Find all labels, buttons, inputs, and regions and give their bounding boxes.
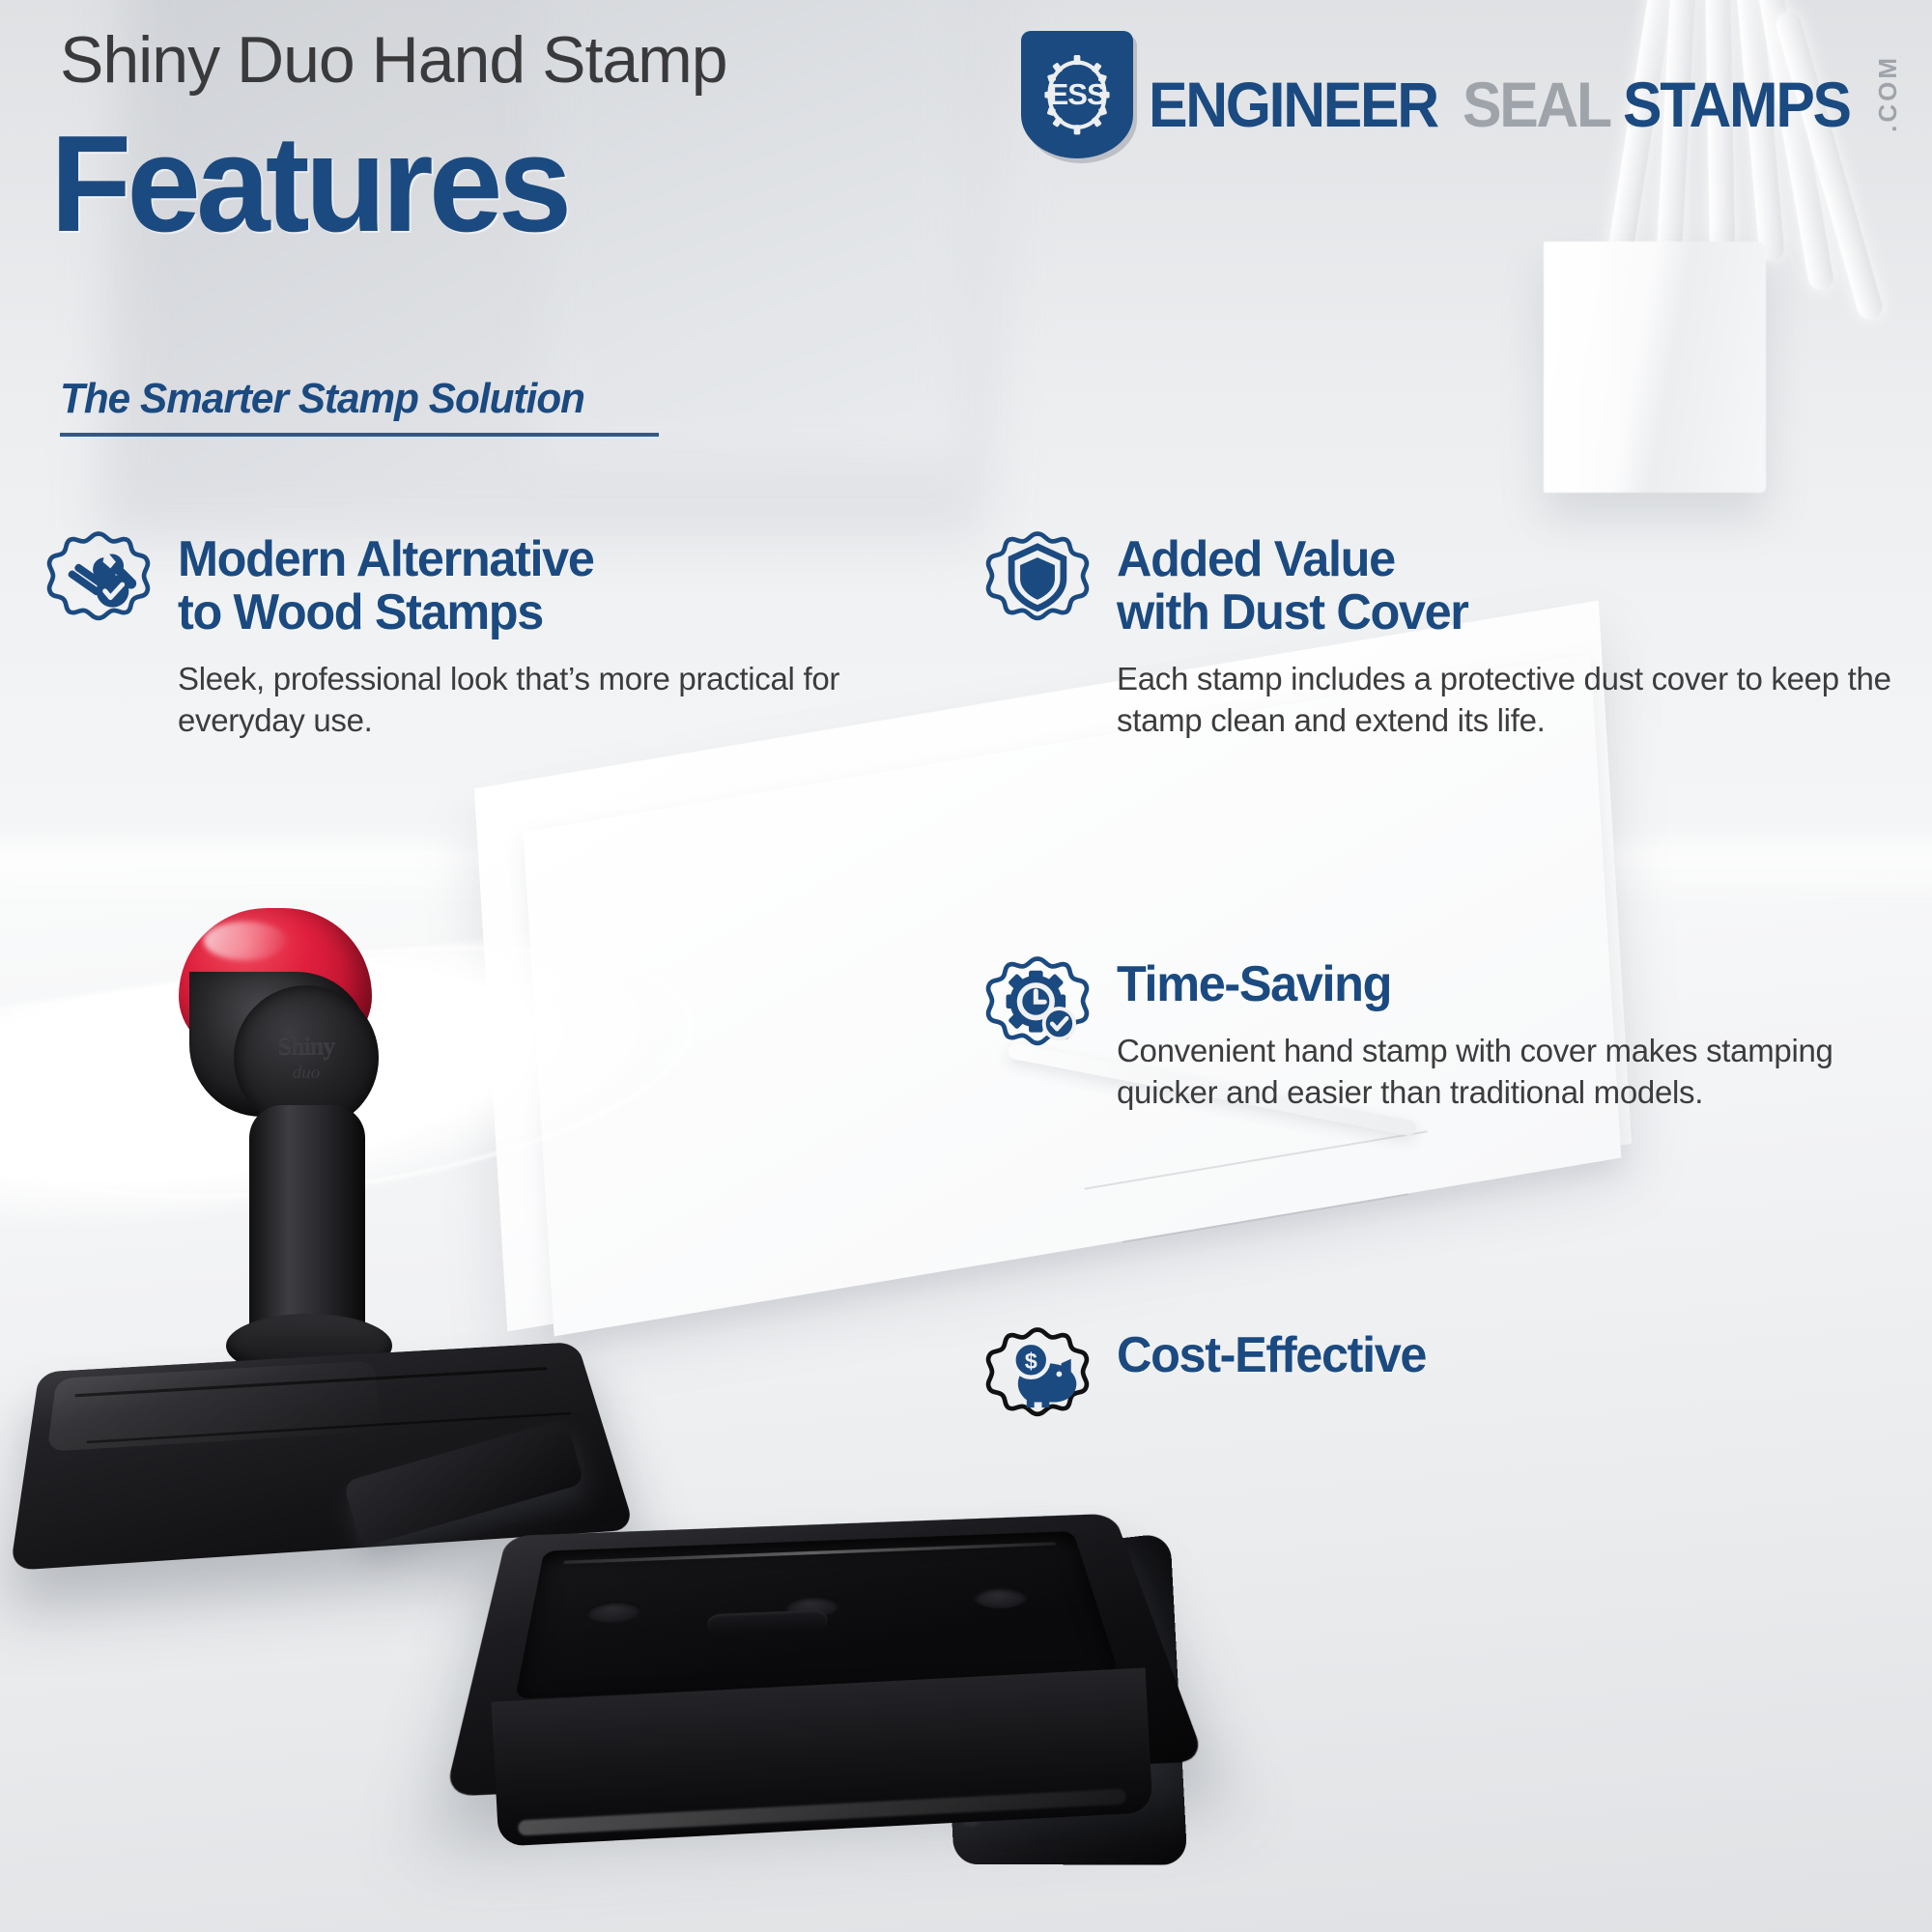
- feature-title-line-2: with Dust Cover: [1117, 586, 1868, 639]
- gear-icon: ESS: [1037, 50, 1118, 139]
- feature-item-added-value: Added Value with Dust Cover Each stamp i…: [983, 529, 1891, 742]
- feature-title-line-1: Modern Alternative: [178, 533, 882, 586]
- wordmark-tld: .COM: [1873, 55, 1903, 132]
- feature-description: Each stamp includes a protective dust co…: [1117, 659, 1891, 742]
- brand-logo[interactable]: ESS ENGINEER SEAL STAMPS .COM: [1021, 31, 1903, 158]
- feature-text-block: Cost-Effective: [1117, 1325, 1435, 1434]
- hero-tagline: The Smarter Stamp Solution: [60, 375, 635, 423]
- feature-text-block: Modern Alternative to Wood Stamps Sleek,…: [178, 529, 904, 742]
- hero-tagline-group: The Smarter Stamp Solution: [60, 375, 659, 437]
- feature-text-block: Added Value with Dust Cover Each stamp i…: [1117, 529, 1891, 742]
- gear-clock-check-badge-icon: [983, 954, 1092, 1063]
- feature-title-line-1: Time-Saving: [1117, 958, 1887, 1011]
- brand-wordmark: ENGINEER SEAL STAMPS .COM: [1149, 55, 1903, 134]
- wordmark-stamps: STAMPS: [1623, 75, 1850, 134]
- feature-title-line-2: to Wood Stamps: [178, 586, 882, 639]
- feature-title-line-1: Cost-Effective: [1117, 1329, 1426, 1382]
- feature-item-cost-effective: $ Cost-Effective: [983, 1325, 1853, 1434]
- svg-text:$: $: [1025, 1349, 1037, 1374]
- tools-check-badge-icon: [44, 529, 153, 638]
- feature-description: Sleek, professional look that’s more pra…: [178, 659, 904, 742]
- feature-text-block: Time-Saving Convenient hand stamp with c…: [1117, 954, 1911, 1114]
- piggy-bank-badge-icon: $: [983, 1325, 1092, 1434]
- shield-badge-icon: [983, 529, 1092, 638]
- feature-title-line-1: Added Value: [1117, 533, 1868, 586]
- hero-headline: Features: [50, 116, 567, 253]
- feature-item-time-saving: Time-Saving Convenient hand stamp with c…: [983, 954, 1911, 1114]
- ess-badge-text: ESS: [1049, 77, 1106, 112]
- feature-item-modern-alternative: Modern Alternative to Wood Stamps Sleek,…: [44, 529, 904, 742]
- wordmark-engineer: ENGINEER: [1149, 75, 1437, 134]
- feature-description: Convenient hand stamp with cover makes s…: [1117, 1031, 1911, 1114]
- ess-shield-icon: ESS: [1021, 31, 1133, 158]
- hero-tagline-underline: [60, 433, 659, 437]
- wordmark-seal: SEAL: [1463, 75, 1610, 134]
